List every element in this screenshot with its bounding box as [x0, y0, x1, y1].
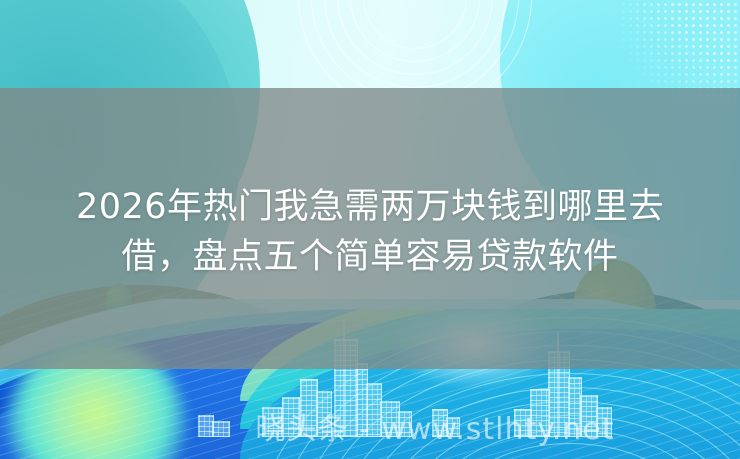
dot-pattern-icon — [620, 0, 740, 114]
arc-lines-icon — [300, 0, 530, 112]
page-title: 2026年热门我急需两万块钱到哪里去 借，盘点五个简单容易贷款软件 — [0, 182, 740, 282]
poster-canvas: 2026年热门我急需两万块钱到哪里去 借，盘点五个简单容易贷款软件 晓头条 - … — [0, 0, 740, 459]
watermark-text: 晓头条 - www.stlhty.net — [0, 411, 740, 451]
